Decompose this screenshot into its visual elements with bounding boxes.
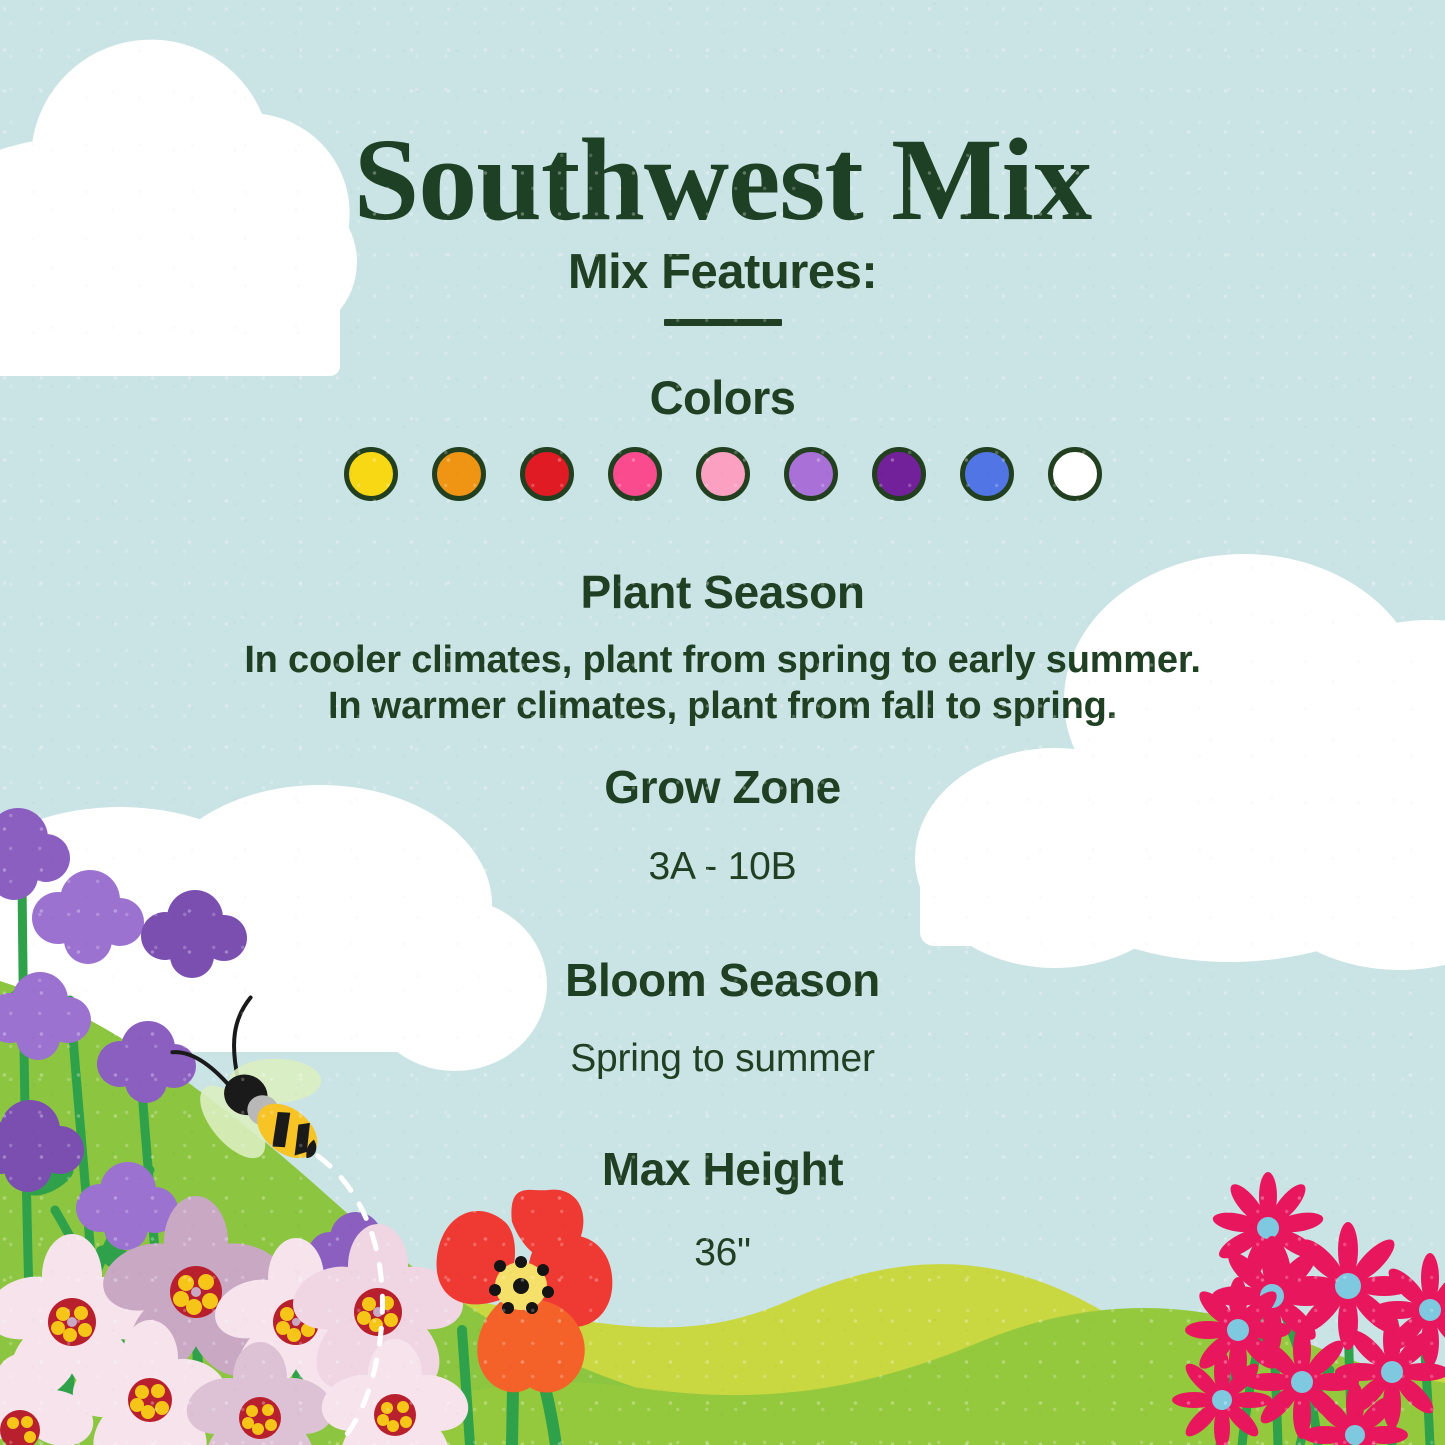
color-swatch-row	[0, 447, 1445, 501]
bloom-season-heading: Bloom Season	[0, 953, 1445, 1007]
max-height-value: 36"	[0, 1229, 1445, 1277]
color-swatch-yellow	[344, 447, 398, 501]
color-swatch-orange	[432, 447, 486, 501]
plant-season-line-2: In warmer climates, plant from fall to s…	[0, 683, 1445, 729]
page-title: Southwest Mix	[0, 118, 1445, 242]
plant-season-line-1: In cooler climates, plant from spring to…	[0, 637, 1445, 683]
color-swatch-dark-purple	[872, 447, 926, 501]
heading-divider	[664, 319, 782, 326]
plant-season-body: In cooler climates, plant from spring to…	[0, 637, 1445, 730]
seed-packet-infographic: Southwest Mix Mix Features: Colors Plant…	[0, 0, 1445, 1445]
color-swatch-hot-pink	[608, 447, 662, 501]
color-swatch-light-purple	[784, 447, 838, 501]
color-swatch-light-pink	[696, 447, 750, 501]
mix-features-subtitle: Mix Features:	[0, 244, 1445, 300]
bloom-season-value: Spring to summer	[0, 1035, 1445, 1083]
color-swatch-red	[520, 447, 574, 501]
max-height-heading: Max Height	[0, 1142, 1445, 1196]
color-swatch-blue	[960, 447, 1014, 501]
infographic-content: Southwest Mix Mix Features: Colors Plant…	[0, 0, 1445, 1445]
grow-zone-value: 3A - 10B	[0, 843, 1445, 891]
colors-section-label: Colors	[0, 370, 1445, 425]
color-swatch-white	[1048, 447, 1102, 501]
grow-zone-heading: Grow Zone	[0, 760, 1445, 814]
plant-season-heading: Plant Season	[0, 565, 1445, 619]
